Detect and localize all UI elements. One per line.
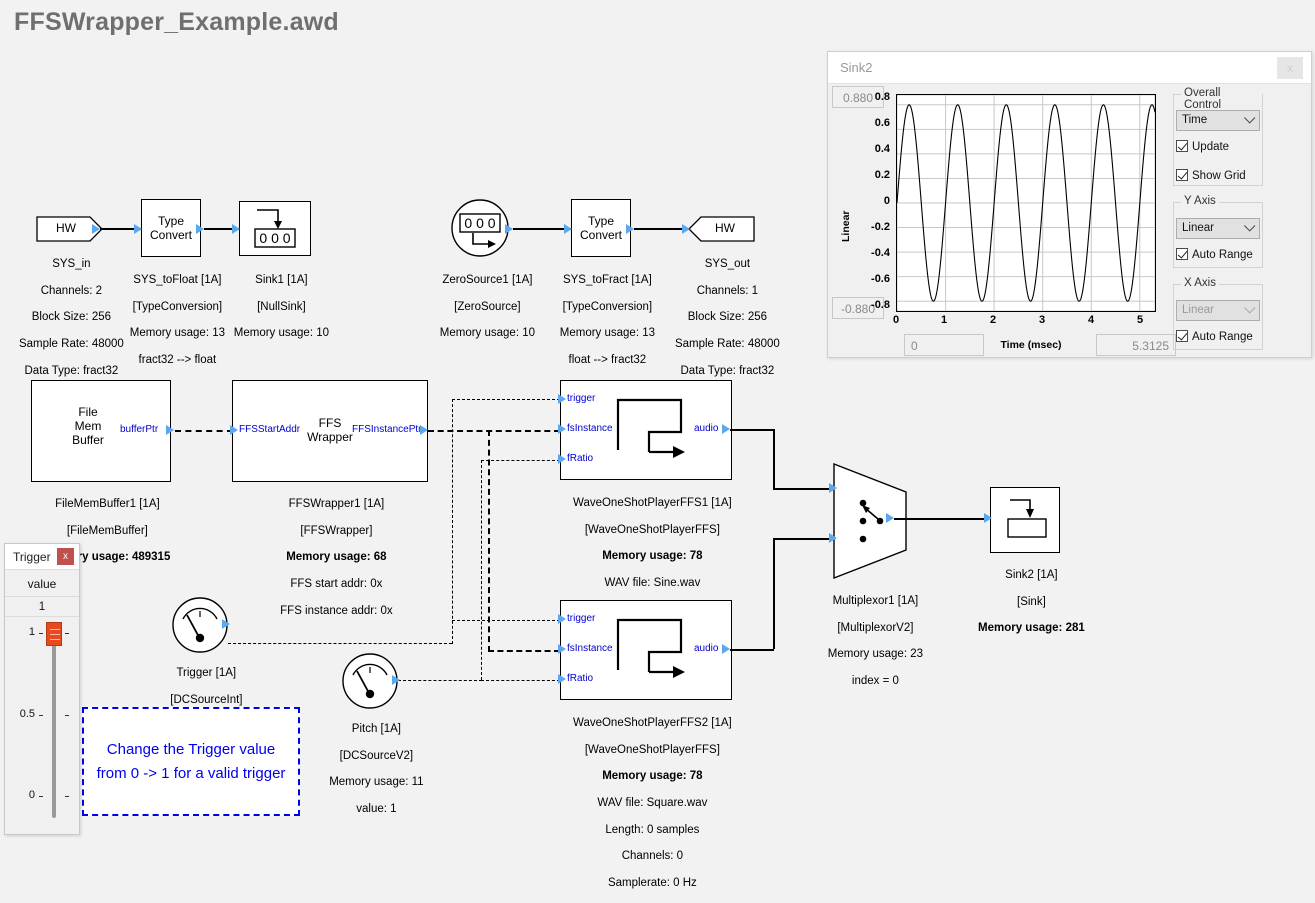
trigger-slider-tick-05: 0.5	[7, 708, 35, 720]
sys-in-inner-label: HW	[36, 221, 96, 235]
design-canvas: FFSWrapper_Example.awd HW SYS_in Channel…	[0, 0, 1315, 835]
wire-player1-to-mux-v	[773, 429, 775, 489]
null-sink-icon: 0 0 0	[247, 205, 303, 251]
trigger-value-readout: 1	[5, 597, 79, 617]
filemembuffer1-output-port-arrow	[166, 425, 174, 435]
sys-out-input-port-arrow	[682, 224, 690, 234]
one-shot-wave-icon	[615, 392, 695, 462]
trigger-slider-handle[interactable]	[46, 622, 62, 646]
waveplayer1-fratio-port-label: fRatio	[567, 453, 593, 464]
x-tick-3: 3	[1032, 314, 1052, 326]
trigger-tick-mark-05	[39, 715, 43, 716]
sink2-block-caption: Sink2 [1A] [Sink] Memory usage: 281	[955, 556, 1095, 649]
trigger-tick-mark-1	[39, 633, 43, 634]
chevron-down-icon	[1244, 220, 1255, 231]
update-checkbox[interactable]	[1176, 140, 1188, 152]
wire-fratio-horizontal	[398, 680, 482, 681]
waveplayer2-fsinstance-port-label: fsInstance	[567, 643, 613, 654]
gauge-icon-trigger[interactable]	[172, 597, 228, 653]
gauge-icon-pitch[interactable]	[342, 653, 398, 709]
trigger-tick-mark-05r	[65, 715, 69, 716]
wire-trigger-to-player2	[452, 620, 560, 621]
trigger-panel-title: Trigger	[13, 550, 51, 564]
ffswrapper1-instanceptr-port-label: FFSInstancePtr	[352, 424, 421, 435]
sys-tofloat-inner-label: TypeConvert	[141, 214, 201, 242]
sink2-waveform-plot	[896, 94, 1156, 312]
sink1-caption: Sink1 [1A] [NullSink] Memory usage: 10	[215, 261, 335, 354]
x-tick-5: 5	[1130, 314, 1150, 326]
zerosource1-caption: ZeroSource1 [1A] [ZeroSource] Memory usa…	[420, 261, 542, 354]
trigger-panel[interactable]: Trigger x value 1 1 0.5 0	[4, 543, 80, 835]
x-tick-2: 2	[983, 314, 1003, 326]
sink2-plot-window[interactable]: Sink2 x 0.880 -0.880 0 5.3125 Linear 0.8…	[827, 51, 1312, 358]
y-tick-m04: -0.4	[854, 247, 890, 259]
trigger-tick-mark-0	[39, 796, 43, 797]
waveplayer2-fratio-port-arrow	[558, 674, 566, 684]
sys-tofloat-input-port-arrow	[134, 224, 142, 234]
trigger-slider-tick-0: 0	[13, 789, 35, 801]
ffswrapper1-inner-label: FFSWrapper	[306, 416, 354, 444]
y-auto-range-checkbox[interactable]	[1176, 248, 1188, 260]
wire-fratio-to-player2	[481, 680, 560, 681]
wire-trigger-horizontal	[228, 643, 452, 644]
waveplayer2-trigger-port-arrow	[558, 614, 566, 624]
filemembuffer1-inner-label: FileMemBuffer	[60, 405, 116, 447]
multiplexor1-caption: Multiplexor1 [1A] [MultiplexorV2] Memory…	[790, 582, 948, 702]
y-tick-06: 0.6	[858, 117, 890, 129]
zerosource1-output-port-arrow	[505, 224, 513, 234]
wire-mux-to-sink2	[894, 518, 986, 520]
sys-tofract-output-port-arrow	[626, 224, 634, 234]
multiplexor1-input0-port-arrow	[829, 483, 837, 493]
waveplayer1-audio-port-label: audio	[694, 423, 718, 434]
trigger-value-label: value	[5, 571, 79, 597]
x-tick-0: 0	[886, 314, 906, 326]
sys-tofloat-output-port-arrow	[196, 224, 204, 234]
wire-filemembuffer-ffswrapper	[175, 430, 233, 432]
sink2-window-title: Sink2	[840, 60, 873, 75]
sink1-input-port-arrow	[232, 224, 240, 234]
bus-fsinstance-vertical	[488, 430, 490, 652]
waveplayer1-audio-port-arrow	[722, 424, 730, 434]
y-tick-m02: -0.2	[854, 221, 890, 233]
filemembuffer1-bufferptr-port-label: bufferPtr	[120, 424, 158, 435]
trigger-slider-tick-1: 1	[13, 626, 35, 638]
sys-in-caption: SYS_in Channels: 2 Block Size: 256 Sampl…	[0, 245, 130, 391]
show-grid-checkbox[interactable]	[1176, 169, 1188, 181]
x-axis-group-title: X Axis	[1181, 277, 1219, 289]
y-tick-04: 0.4	[858, 143, 890, 155]
x-axis-scale-value: Linear	[1182, 304, 1214, 316]
waveplayer2-caption: WaveOneShotPlayerFFS2 [1A] [WaveOneShotP…	[548, 704, 744, 903]
multiplexor1-input1-port-arrow	[829, 533, 837, 543]
sys-out-inner-label: HW	[695, 221, 755, 235]
x-axis-label: Time (msec)	[976, 339, 1086, 351]
y-tick-02: 0.2	[858, 169, 890, 181]
x-auto-range-label: Auto Range	[1192, 331, 1253, 343]
x-tick-4: 4	[1081, 314, 1101, 326]
wire-player2-into-mux	[773, 538, 836, 540]
y-axis-scale-value: Linear	[1182, 222, 1214, 234]
x-max-field[interactable]: 5.3125	[1096, 334, 1176, 356]
ffswrapper1-output-port-arrow	[420, 425, 428, 435]
waveplayer2-audio-port-label: audio	[694, 643, 718, 654]
multiplexor1-output-port-arrow	[886, 513, 894, 523]
bus-fsinstance-top	[428, 430, 560, 432]
close-icon[interactable]: x	[1277, 57, 1303, 79]
wire-player1-into-mux	[773, 488, 836, 490]
waveplayer2-fratio-port-label: fRatio	[567, 673, 593, 684]
sys-out-caption: SYS_out Channels: 1 Block Size: 256 Samp…	[656, 245, 786, 391]
overall-control-title: Overall Control	[1181, 87, 1262, 111]
sys-tofract-input-port-arrow	[564, 224, 572, 234]
trigger-src-output-port-arrow	[222, 619, 230, 629]
overall-control-mode-select[interactable]: Time	[1176, 110, 1260, 131]
close-icon[interactable]: x	[57, 548, 74, 565]
sys-tofract-inner-label: TypeConvert	[571, 214, 631, 242]
wire-zerosource-tofract	[513, 228, 571, 230]
sys-in-output-port-arrow	[92, 224, 100, 234]
x-auto-range-checkbox-row[interactable]: Auto Range	[1176, 330, 1253, 343]
y-axis-label: Linear	[840, 210, 852, 242]
ffswrapper1-startaddr-port-label: FFSStartAddr	[239, 424, 300, 435]
x-tick-1: 1	[934, 314, 954, 326]
y-tick-m08: -0.8	[854, 299, 890, 311]
waveplayer2-fsinstance-port-arrow	[558, 644, 566, 654]
trigger-tick-mark-1r	[65, 633, 69, 634]
annotation-note: Change the Trigger value from 0 -> 1 for…	[82, 707, 300, 816]
sink-icon	[998, 494, 1054, 546]
wire-player2-to-mux-v	[773, 539, 775, 649]
one-shot-wave-icon-2	[615, 612, 695, 682]
bus-fsinstance-bottom	[488, 650, 560, 652]
x-auto-range-checkbox[interactable]	[1176, 330, 1188, 342]
multiplexor-switch-icon[interactable]	[832, 462, 908, 580]
sys-tofract-caption: SYS_toFract [1A] [TypeConversion] Memory…	[538, 261, 664, 381]
wire-trigger-to-player1	[452, 399, 560, 400]
wire-player2-to-mux-h	[730, 649, 774, 651]
sys-tofloat-caption: SYS_toFloat [1A] [TypeConversion] Memory…	[108, 261, 234, 381]
y-auto-range-label: Auto Range	[1192, 249, 1253, 261]
wire-fratio-vertical	[481, 460, 482, 680]
show-grid-checkbox-row[interactable]: Show Grid	[1176, 169, 1246, 182]
svg-text:0 0 0: 0 0 0	[464, 215, 495, 231]
svg-text:0 0 0: 0 0 0	[259, 230, 290, 246]
wire-fratio-to-player1	[481, 460, 560, 461]
overall-control-mode-value: Time	[1182, 114, 1207, 126]
sink2-input-port-arrow	[984, 513, 992, 523]
chevron-down-icon	[1244, 302, 1255, 313]
waveplayer2-trigger-port-label: trigger	[567, 613, 595, 624]
y-tick-0: 0	[858, 195, 890, 207]
y-axis-group-title: Y Axis	[1181, 195, 1219, 207]
waveplayer1-fsinstance-port-arrow	[558, 424, 566, 434]
ffswrapper1-input-port-arrow	[230, 425, 238, 435]
sink2-window-titlebar	[828, 52, 1311, 84]
waveplayer1-trigger-port-label: trigger	[567, 393, 595, 404]
trigger-slider-track[interactable]	[52, 628, 56, 818]
pitch-src-caption: Pitch [1A] [DCSourceV2] Memory usage: 11…	[310, 710, 430, 830]
y-axis-scale-select[interactable]: Linear	[1176, 218, 1260, 239]
zero-source-icon[interactable]: 0 0 0	[451, 199, 509, 257]
x-min-field[interactable]: 0	[904, 334, 984, 356]
page-title: FFSWrapper_Example.awd	[14, 8, 339, 37]
ffswrapper1-caption: FFSWrapper1 [1A] [FFSWrapper] Memory usa…	[232, 485, 428, 631]
waveplayer1-fratio-port-arrow	[558, 454, 566, 464]
y-tick-08: 0.8	[858, 91, 890, 103]
pitch-src-output-port-arrow	[392, 675, 400, 685]
wire-trigger-vertical	[452, 399, 453, 644]
show-grid-label: Show Grid	[1192, 170, 1246, 182]
y-auto-range-checkbox-row[interactable]: Auto Range	[1176, 248, 1253, 261]
chevron-down-icon	[1244, 112, 1255, 123]
trigger-tick-mark-0r	[65, 796, 69, 797]
wire-player1-to-mux-h	[730, 429, 774, 431]
waveplayer2-audio-port-arrow	[722, 644, 730, 654]
x-axis-scale-select: Linear	[1176, 300, 1260, 321]
update-checkbox-row[interactable]: Update	[1176, 140, 1229, 153]
update-label: Update	[1192, 141, 1229, 153]
waveplayer1-trigger-port-arrow	[558, 394, 566, 404]
y-tick-m06: -0.6	[854, 273, 890, 285]
waveplayer1-fsinstance-port-label: fsInstance	[567, 423, 613, 434]
